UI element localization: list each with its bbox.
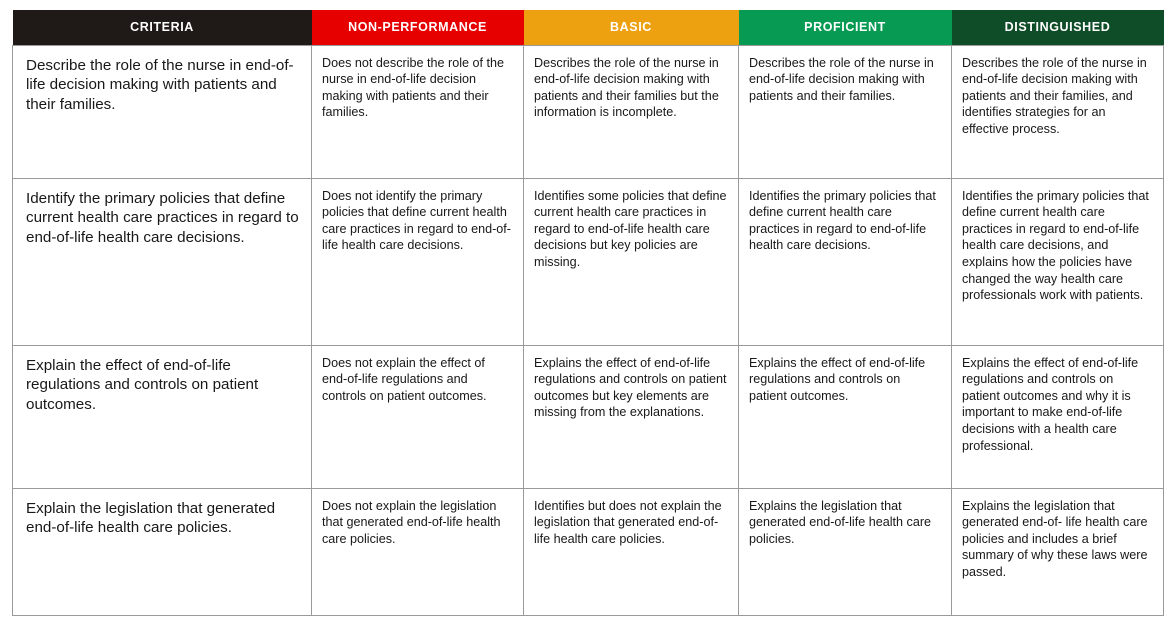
cell-text: Explain the effect of end-of-life regula… [26, 356, 299, 415]
cell-text: Does not explain the legislation that ge… [322, 498, 513, 548]
cell-text: Does not explain the effect of end-of-li… [322, 355, 513, 405]
level-cell-distinguished: Explains the effect of end-of-life regul… [952, 345, 1164, 488]
criteria-cell: Explain the effect of end-of-life regula… [13, 345, 312, 488]
column-header-basic: BASIC [524, 10, 739, 45]
cell-text: Explains the effect of end-of-life regul… [534, 355, 728, 421]
rubric-header-row: CRITERIA NON-PERFORMANCE BASIC PROFICIEN… [13, 10, 1164, 45]
cell-text: Does not identify the primary policies t… [322, 188, 513, 254]
cell-text: Does not describe the role of the nurse … [322, 55, 513, 121]
cell-text: Identifies some policies that define cur… [534, 188, 728, 271]
table-row: Identify the primary policies that defin… [13, 178, 1164, 345]
cell-text: Identifies the primary policies that def… [749, 188, 941, 254]
level-cell-non-performance: Does not describe the role of the nurse … [312, 45, 524, 178]
level-cell-distinguished: Identifies the primary policies that def… [952, 178, 1164, 345]
rubric-container: CRITERIA NON-PERFORMANCE BASIC PROFICIEN… [12, 10, 1163, 616]
cell-text: Identifies but does not explain the legi… [534, 498, 728, 548]
column-header-distinguished: DISTINGUISHED [952, 10, 1164, 45]
level-cell-basic: Explains the effect of end-of-life regul… [524, 345, 739, 488]
table-row: Explain the effect of end-of-life regula… [13, 345, 1164, 488]
cell-text: Describes the role of the nurse in end-o… [534, 55, 728, 121]
level-cell-basic: Describes the role of the nurse in end-o… [524, 45, 739, 178]
column-header-criteria: CRITERIA [13, 10, 312, 45]
cell-text: Describe the role of the nurse in end-of… [26, 56, 299, 115]
table-row: Explain the legislation that generated e… [13, 488, 1164, 615]
level-cell-basic: Identifies some policies that define cur… [524, 178, 739, 345]
level-cell-proficient: Explains the effect of end-of-life regul… [739, 345, 952, 488]
level-cell-proficient: Describes the role of the nurse in end-o… [739, 45, 952, 178]
level-cell-non-performance: Does not explain the legislation that ge… [312, 488, 524, 615]
level-cell-distinguished: Explains the legislation that generated … [952, 488, 1164, 615]
level-cell-proficient: Explains the legislation that generated … [739, 488, 952, 615]
criteria-cell: Identify the primary policies that defin… [13, 178, 312, 345]
cell-text: Explains the effect of end-of-life regul… [749, 355, 941, 405]
cell-text: Describes the role of the nurse in end-o… [749, 55, 941, 105]
cell-text: Explains the effect of end-of-life regul… [962, 355, 1153, 455]
level-cell-distinguished: Describes the role of the nurse in end-o… [952, 45, 1164, 178]
rubric-table: CRITERIA NON-PERFORMANCE BASIC PROFICIEN… [12, 10, 1164, 616]
criteria-cell: Describe the role of the nurse in end-of… [13, 45, 312, 178]
level-cell-basic: Identifies but does not explain the legi… [524, 488, 739, 615]
level-cell-non-performance: Does not explain the effect of end-of-li… [312, 345, 524, 488]
cell-text: Explains the legislation that generated … [962, 498, 1153, 581]
level-cell-proficient: Identifies the primary policies that def… [739, 178, 952, 345]
criteria-cell: Explain the legislation that generated e… [13, 488, 312, 615]
rubric-body: Describe the role of the nurse in end-of… [13, 45, 1164, 615]
level-cell-non-performance: Does not identify the primary policies t… [312, 178, 524, 345]
cell-text: Identify the primary policies that defin… [26, 189, 299, 248]
column-header-non-performance: NON-PERFORMANCE [312, 10, 524, 45]
column-header-proficient: PROFICIENT [739, 10, 952, 45]
cell-text: Explains the legislation that generated … [749, 498, 941, 548]
cell-text: Describes the role of the nurse in end-o… [962, 55, 1153, 138]
cell-text: Explain the legislation that generated e… [26, 499, 299, 539]
table-row: Describe the role of the nurse in end-of… [13, 45, 1164, 178]
cell-text: Identifies the primary policies that def… [962, 188, 1153, 304]
